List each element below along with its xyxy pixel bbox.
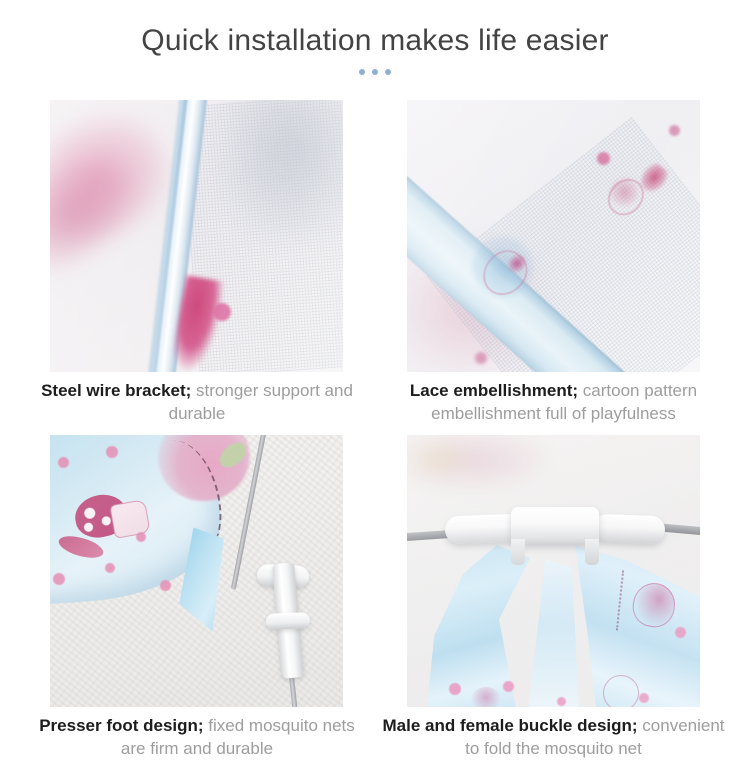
presser-foot-base (266, 612, 311, 630)
pink-polka-dot (105, 563, 115, 573)
photo-soft-light-overlay (407, 100, 700, 372)
separator-dot-1 (359, 69, 365, 75)
pink-polka-dot (106, 446, 118, 458)
photo-presser-foot-design (50, 435, 343, 707)
feature-card-male-female-buckle-design: Male and female buckle design; convenien… (407, 435, 700, 760)
page-header: Quick installation makes life easier (0, 0, 750, 75)
pink-polka-dot (53, 573, 65, 585)
feature-card-steel-wire-bracket: Steel wire bracket; stronger support and… (50, 100, 343, 425)
caption-presser-foot-design: Presser foot design; fixed mosquito nets… (32, 707, 362, 760)
page-title: Quick installation makes life easier (0, 24, 750, 58)
photo-male-female-buckle-design (407, 435, 700, 707)
photo-soft-light-overlay (407, 435, 700, 707)
photo-steel-wire-bracket (50, 100, 343, 372)
caption-lead: Lace embellishment; (410, 381, 578, 400)
caption-rest: stronger support and durable (169, 381, 353, 423)
photo-lace-embellishment (407, 100, 700, 372)
pink-polka-dot (58, 457, 69, 468)
separator-dot-3 (385, 69, 391, 75)
pink-polka-dot (160, 580, 171, 591)
feature-grid: Steel wire bracket; stronger support and… (50, 100, 700, 760)
feature-card-lace-embellishment: Lace embellishment; cartoon pattern embe… (407, 100, 700, 425)
pink-polka-dot (136, 532, 146, 542)
caption-lead: Presser foot design; (39, 716, 203, 735)
photo-soft-light-overlay (50, 100, 343, 372)
caption-steel-wire-bracket: Steel wire bracket; stronger support and… (32, 372, 362, 425)
separator-dot-2 (372, 69, 378, 75)
caption-lace-embellishment: Lace embellishment; cartoon pattern embe… (381, 372, 726, 425)
caption-lead: Male and female buckle design; (382, 716, 637, 735)
dot-separator (0, 69, 750, 75)
caption-lead: Steel wire bracket; (41, 381, 191, 400)
caption-male-female-buckle-design: Male and female buckle design; convenien… (381, 707, 726, 760)
feature-card-presser-foot-design: Presser foot design; fixed mosquito nets… (50, 435, 343, 760)
